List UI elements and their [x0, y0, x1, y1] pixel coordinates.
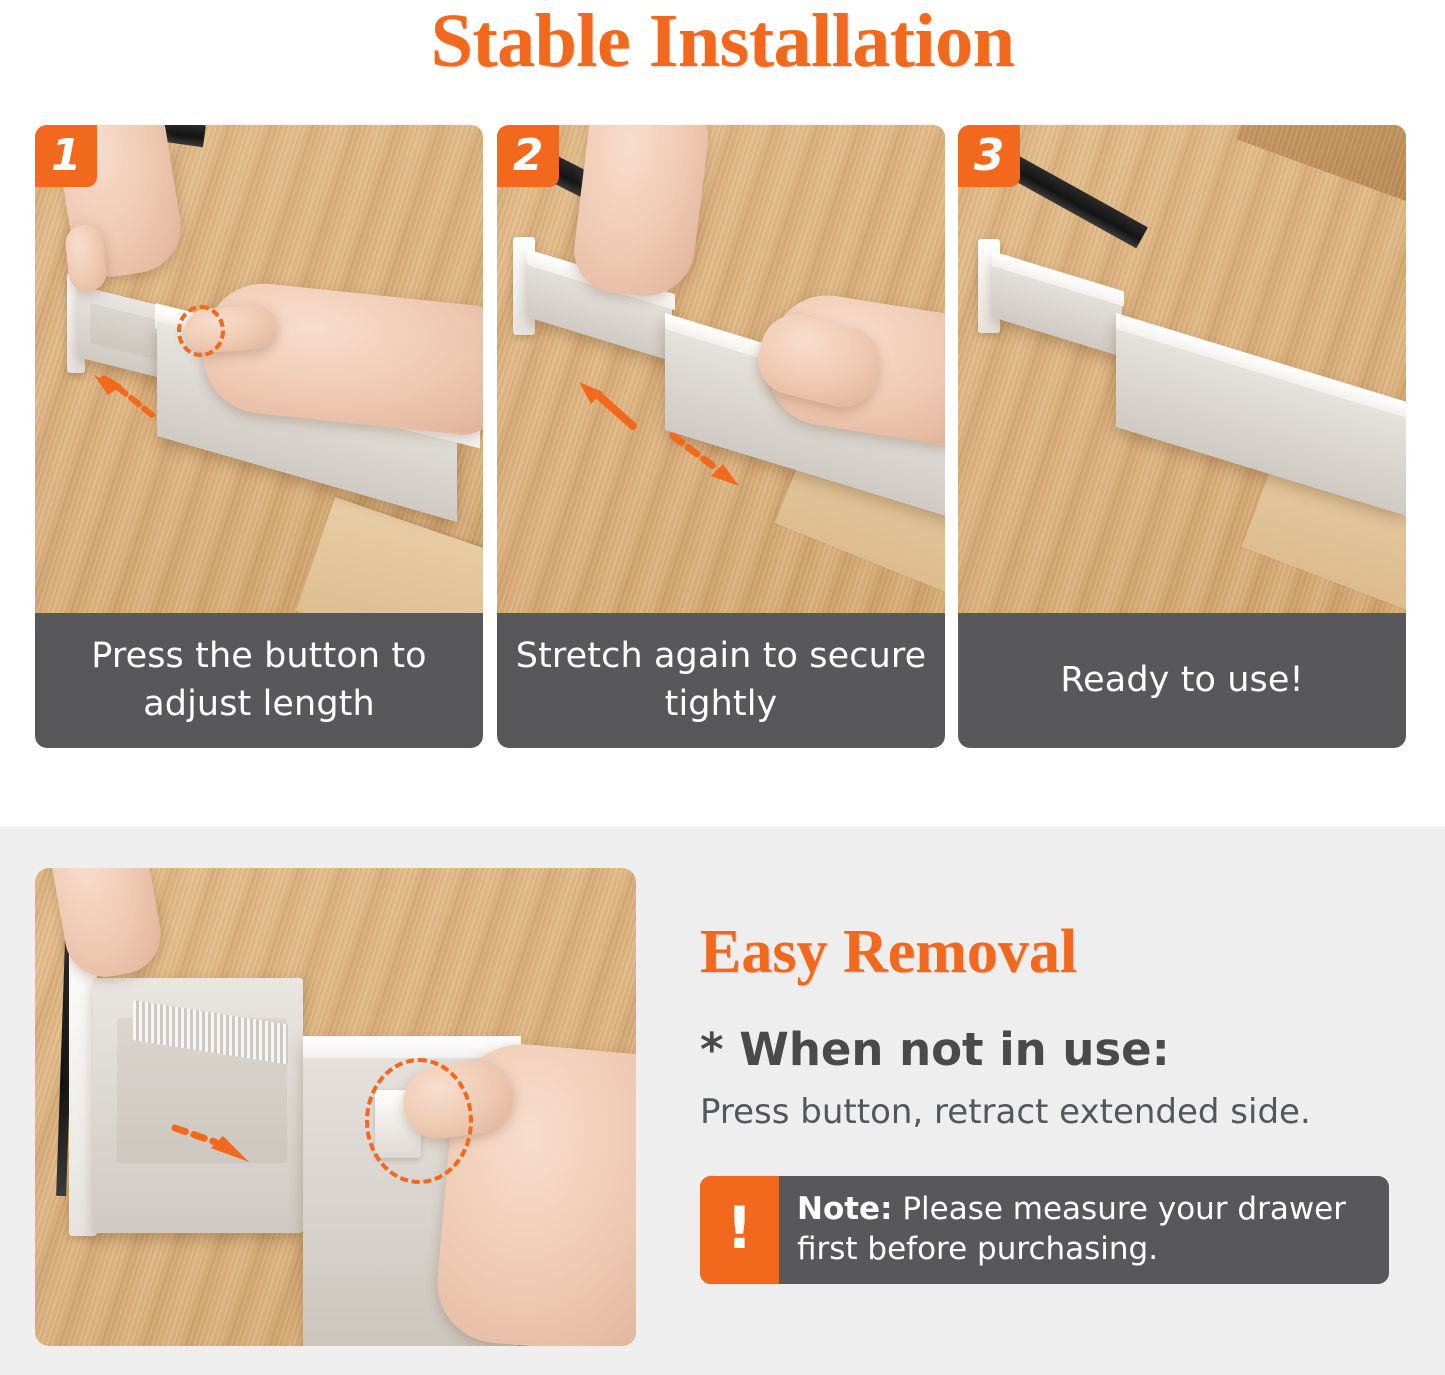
note-label: Note:	[797, 1191, 892, 1227]
easy-removal-subheading: * When not in use:	[700, 1023, 1170, 1076]
up-left-arrow-annotation	[575, 380, 645, 435]
easy-removal-heading: Easy Removal	[700, 917, 1077, 988]
button-highlight-circle	[177, 305, 225, 357]
easy-removal-section: Easy Removal * When not in use: Press bu…	[0, 827, 1445, 1375]
easy-removal-body-text: Press button, retract extended side.	[700, 1092, 1311, 1132]
step-caption: Stretch again to secure tightly	[497, 613, 945, 748]
easy-removal-photo	[35, 868, 636, 1346]
note-text: Note: Please measure your drawer first b…	[779, 1176, 1389, 1284]
step-panel-2: 2 Stretch again to secure tightly	[497, 125, 945, 748]
step-3-photo	[958, 125, 1406, 613]
button-highlight-circle	[365, 1058, 473, 1184]
stable-installation-section: Stable Installation	[0, 0, 1445, 827]
note-box: ! Note: Please measure your drawer first…	[700, 1176, 1389, 1284]
step-number-badge: 3	[958, 125, 1020, 187]
step-caption: Ready to use!	[958, 613, 1406, 748]
step-number-badge: 1	[35, 125, 97, 187]
page-title: Stable Installation	[0, 0, 1445, 85]
exclamation-mark-icon: !	[700, 1176, 779, 1284]
step-panel-1: 1 Press the button to adjust length	[35, 125, 483, 748]
step-panel-3: 3 Ready to use!	[958, 125, 1406, 748]
step-caption: Press the button to adjust length	[35, 613, 483, 748]
left-arrow-annotation	[90, 373, 160, 423]
step-1-photo	[35, 125, 483, 613]
right-dashed-arrow-annotation	[171, 1118, 257, 1174]
step-number-badge: 2	[497, 125, 559, 187]
step-2-photo	[497, 125, 945, 613]
down-right-dashed-arrow-annotation	[669, 430, 749, 490]
